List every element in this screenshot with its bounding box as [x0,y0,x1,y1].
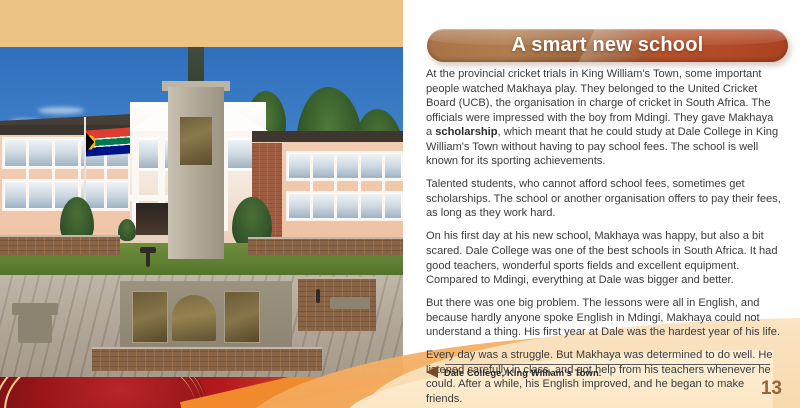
path-lamp-icon [146,251,150,267]
cricket-ball-seam [4,377,196,408]
article-paragraph: At the provincial cricket trials in King… [426,67,781,169]
article-paragraph: But there was one big problem. The lesso… [426,296,781,340]
photo-top-band [0,0,403,47]
window-mullion [310,151,313,221]
caption-divider [445,364,770,365]
stone-bench [330,297,370,309]
book-page: A smart new school At the provincial cri… [0,0,800,408]
emphasised-term: scholarship [435,126,497,138]
article-paragraph: Talented students, who cannot afford sch… [426,177,781,221]
text-run: On his first day at his new school, Makh… [426,230,778,286]
memorial-bronze-arch-plaque [172,295,216,341]
shrub [118,219,136,241]
memorial-plaque [180,117,212,165]
page-number: 13 [761,378,782,400]
path-lamp-icon [316,289,320,303]
text-column: A smart new school At the provincial cri… [403,0,800,408]
memorial-plinth [168,87,224,259]
cloud-icon [38,107,84,114]
text-run: But there was one big problem. The lesso… [426,297,780,338]
window-mullion [52,137,55,211]
window-mullion [26,137,29,211]
stone-bench [18,315,52,343]
window-mullion [382,151,385,221]
memorial-base-wall [92,347,322,371]
article-paragraph: On his first day at his new school, Makh… [426,229,781,287]
caption-marker-icon [426,366,438,378]
low-brick-wall [248,237,403,255]
low-brick-wall [0,235,120,255]
photo-caption: Dale College, King William's Town. [444,367,601,378]
text-run: Talented students, who cannot afford sch… [426,178,781,219]
path-lamp-icon [140,247,156,253]
article-body: At the provincial cricket trials in King… [426,67,781,408]
school-photo [0,47,403,377]
photo-column [0,0,403,377]
window-mullion [358,151,361,221]
window-mullion [334,151,337,221]
memorial-bronze-plaque [224,291,260,343]
memorial-bronze-plaque [132,291,168,343]
stone-bench [12,303,58,315]
page-title: A smart new school [427,29,788,62]
